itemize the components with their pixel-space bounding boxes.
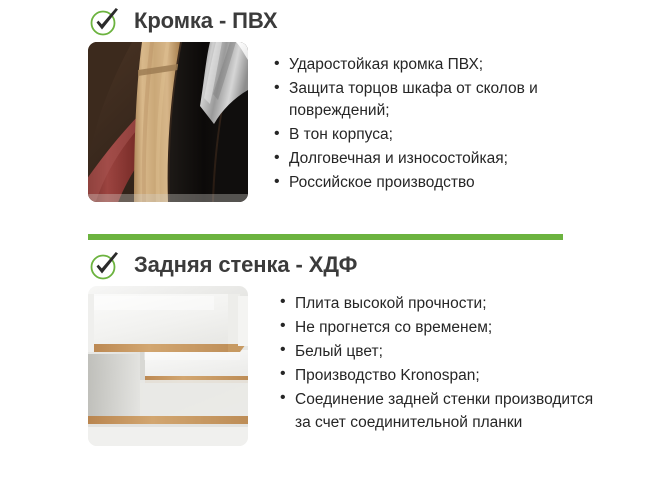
list-item: Белый цвет; bbox=[280, 340, 595, 363]
green-check-circle-icon bbox=[88, 4, 122, 38]
section-title: Кромка - ПВХ bbox=[134, 8, 277, 34]
section-body-hdf-back-panel: Плита высокой прочности; Не прогнется со… bbox=[0, 286, 652, 446]
list-item: Плита высокой прочности; bbox=[280, 292, 595, 315]
feature-list-hdf-back-panel: Плита высокой прочности; Не прогнется со… bbox=[280, 292, 595, 435]
list-item: Российское производство bbox=[274, 172, 589, 194]
list-item: Производство Kronospan; bbox=[280, 364, 595, 387]
list-item: Ударостойкая кромка ПВХ; bbox=[274, 54, 589, 76]
section-heading-pvc-edge: Кромка - ПВХ bbox=[0, 0, 652, 42]
list-item: Не прогнется со временем; bbox=[280, 316, 595, 339]
list-item: В тон корпуса; bbox=[274, 124, 589, 146]
section-pvc-edge: Кромка - ПВХ bbox=[0, 0, 652, 202]
feature-list-pvc-edge: Ударостойкая кромка ПВХ; Защита торцов ш… bbox=[274, 54, 589, 196]
section-hdf-back-panel: Задняя стенка - ХДФ bbox=[0, 244, 652, 446]
section-title: Задняя стенка - ХДФ bbox=[134, 252, 357, 278]
list-item: Долговечная и износостойкая; bbox=[274, 148, 589, 170]
hdf-back-panel-photo bbox=[88, 286, 248, 446]
green-check-circle-icon bbox=[88, 248, 122, 282]
product-features-page: Кромка - ПВХ bbox=[0, 0, 652, 500]
list-item: Защита торцов шкафа от сколов и поврежде… bbox=[274, 78, 589, 122]
list-item: Соединение задней стенки производится за… bbox=[280, 388, 595, 434]
section-body-pvc-edge: Ударостойкая кромка ПВХ; Защита торцов ш… bbox=[0, 42, 652, 202]
section-divider bbox=[88, 234, 563, 240]
section-heading-hdf-back-panel: Задняя стенка - ХДФ bbox=[0, 244, 652, 286]
pvc-edge-banding-photo bbox=[88, 42, 248, 202]
